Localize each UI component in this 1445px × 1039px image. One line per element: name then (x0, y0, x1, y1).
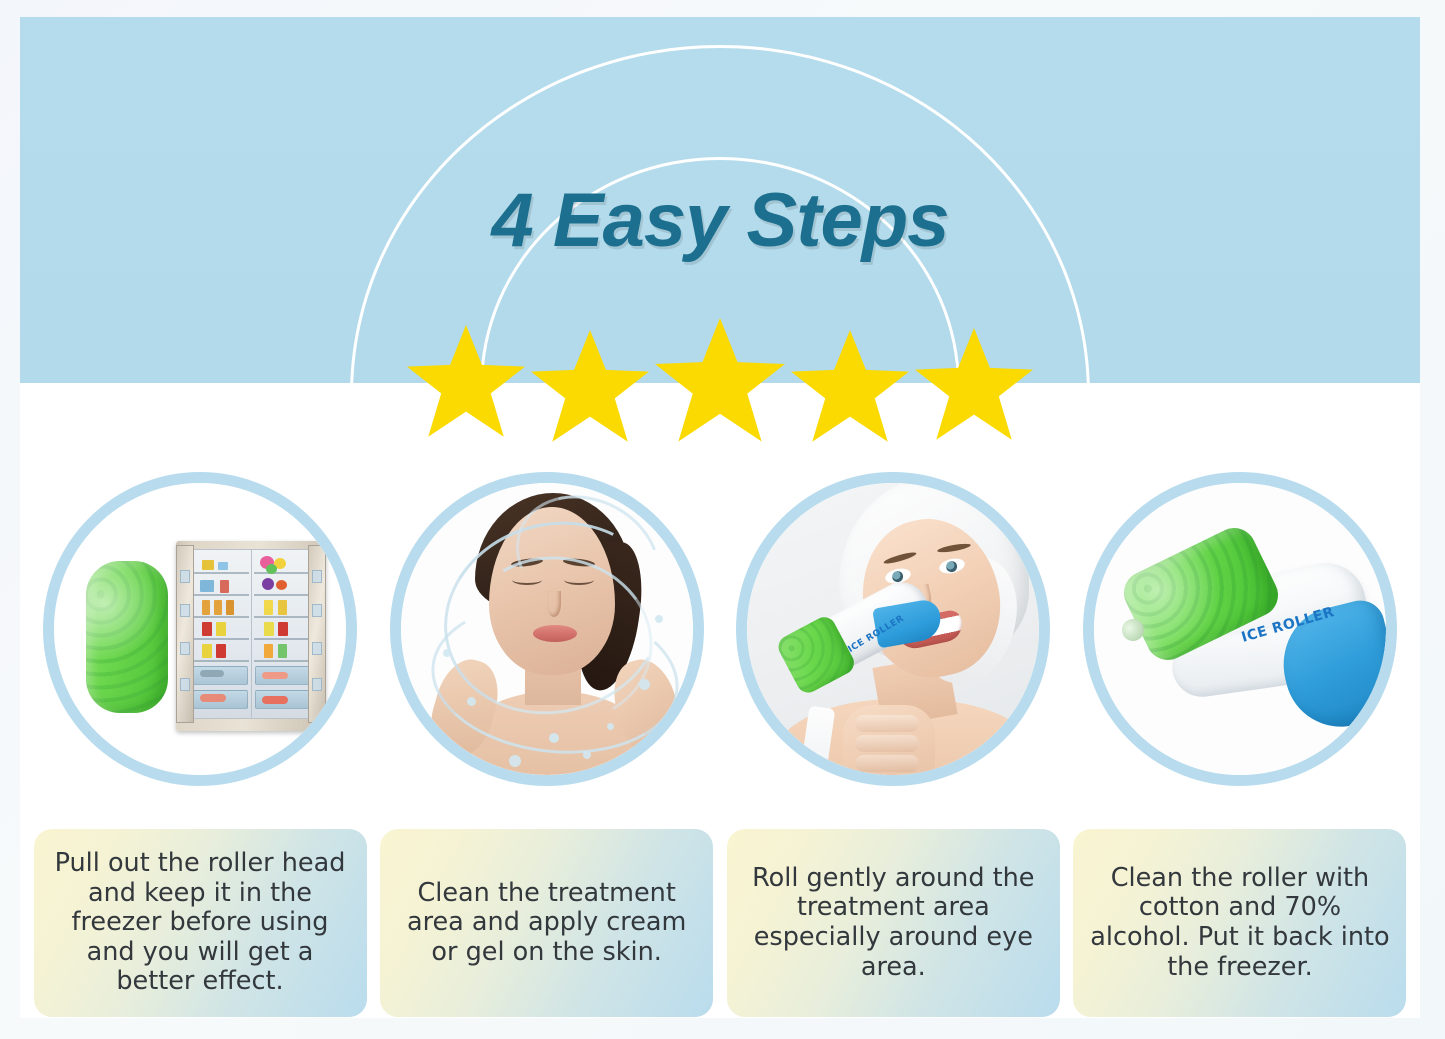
page-title: 4 Easy Steps (20, 177, 1420, 264)
step-4: ICE ROLLER Clean the roller with cotton … (1070, 472, 1410, 1017)
star-rating (20, 322, 1420, 444)
step-4-caption-panel: Clean the roller with cotton and 70% alc… (1073, 829, 1406, 1017)
steps-row: Pull out the roller head and keep it in … (20, 472, 1420, 1017)
roller-head-icon (86, 561, 168, 713)
ice-roller-product: ICE ROLLER (1114, 541, 1386, 731)
step-1: Pull out the roller head and keep it in … (30, 472, 370, 1017)
star-icon (791, 330, 909, 444)
step-3-caption-text: Roll gently around the treatment area es… (739, 864, 1048, 982)
star-icon (915, 328, 1033, 442)
star-icon (531, 330, 649, 444)
star-icon (407, 325, 525, 439)
star-icon (655, 318, 785, 444)
step-2-caption-text: Clean the treatment area and apply cream… (392, 879, 701, 968)
infographic-poster: 4 Easy Steps (0, 0, 1445, 1039)
step-2-image-frame (390, 472, 704, 786)
step-4-caption-text: Clean the roller with cotton and 70% alc… (1085, 864, 1394, 982)
poster-card: 4 Easy Steps (20, 17, 1420, 1018)
step-2-caption-panel: Clean the treatment area and apply cream… (380, 829, 713, 1017)
hand (843, 705, 935, 775)
step-3: ICE ROLLER Roll gently around the treatm… (723, 472, 1063, 1017)
refrigerator-icon (176, 541, 326, 731)
ice-roller-product-image: ICE ROLLER (1094, 483, 1386, 775)
step-3-image-frame: ICE ROLLER (736, 472, 1050, 786)
step-2: Clean the treatment area and apply cream… (377, 472, 717, 1017)
step-1-caption-text: Pull out the roller head and keep it in … (46, 849, 355, 997)
step-1-caption-panel: Pull out the roller head and keep it in … (34, 829, 367, 1017)
step-3-caption-panel: Roll gently around the treatment area es… (727, 829, 1060, 1017)
roller-head-and-freezer-image (54, 483, 346, 775)
woman-using-ice-roller-image: ICE ROLLER (747, 483, 1039, 775)
woman-washing-face-image (401, 483, 693, 775)
step-4-image-frame: ICE ROLLER (1083, 472, 1397, 786)
step-1-image-frame (43, 472, 357, 786)
